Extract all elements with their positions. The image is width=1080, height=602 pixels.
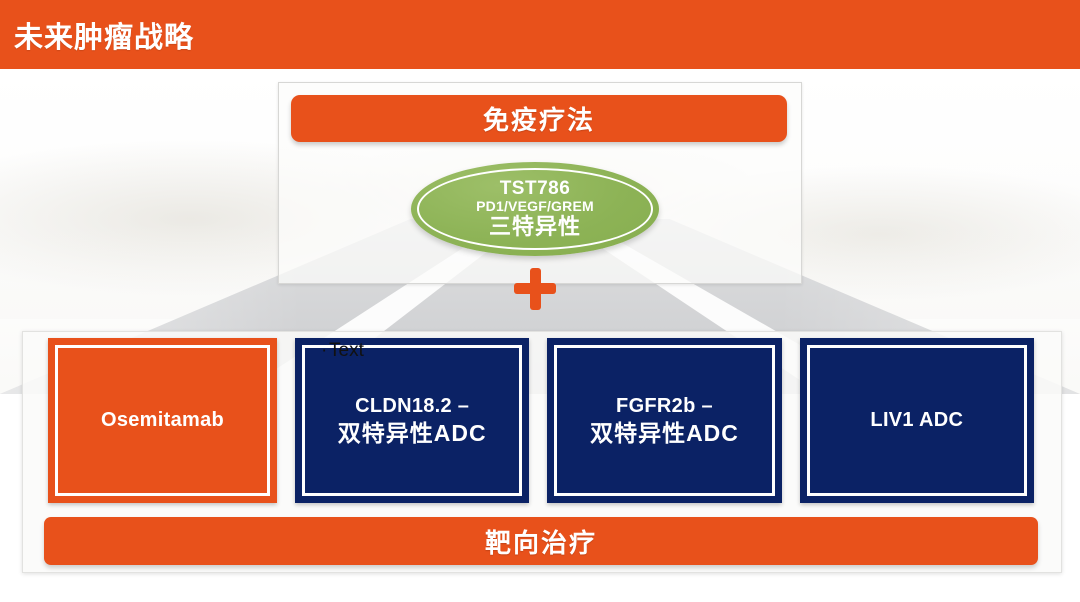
title-bar: 未来肿瘤战略 xyxy=(0,0,1080,69)
therapy-card-fgfr2b[interactable]: FGFR2b – 双特异性ADC xyxy=(547,338,781,503)
stray-text-label: Text xyxy=(329,340,364,361)
therapy-card-label: FGFR2b – 双特异性ADC xyxy=(580,394,749,446)
immunotherapy-banner-label: 免疫疗法 xyxy=(483,100,595,137)
therapy-card-list: Osemitamab CLDN18.2 – 双特异性ADC FGFR2b – 双… xyxy=(48,338,1034,503)
therapy-card-line1: LIV1 ADC xyxy=(870,408,963,432)
page-title: 未来肿瘤战略 xyxy=(14,14,194,56)
therapy-card-line1: CLDN18.2 – xyxy=(338,394,487,418)
therapy-card-cldn182[interactable]: CLDN18.2 – 双特异性ADC xyxy=(295,338,529,503)
immunotherapy-banner[interactable]: 免疫疗法 xyxy=(291,95,787,142)
therapy-card-line2: 双特异性ADC xyxy=(590,419,739,447)
plus-horizontal-stroke xyxy=(514,283,556,294)
tst786-code: TST786 xyxy=(500,179,571,199)
tst786-modality: 三特异性 xyxy=(489,215,581,239)
therapy-card-label: CLDN18.2 – 双特异性ADC xyxy=(328,394,497,446)
tst786-targets: PD1/VEGF/GREM xyxy=(476,198,594,215)
slide-canvas: 未来肿瘤战略 免疫疗法 TST786 PD1/VEGF/GREM 三特异性 Os… xyxy=(0,0,1080,602)
therapy-card-line2: 双特异性ADC xyxy=(338,419,487,447)
therapy-card-label: LIV1 ADC xyxy=(860,408,973,432)
therapy-card-line1: Osemitamab xyxy=(101,408,224,432)
targeted-therapy-banner[interactable]: 靶向治疗 xyxy=(44,517,1038,565)
bullet-dot-icon: · xyxy=(321,341,329,360)
targeted-therapy-banner-label: 靶向治疗 xyxy=(485,523,597,560)
therapy-card-liv1-adc[interactable]: LIV1 ADC xyxy=(800,338,1034,503)
therapy-card-line1: FGFR2b – xyxy=(590,394,739,418)
therapy-card-osemitamab[interactable]: Osemitamab xyxy=(48,338,277,503)
therapy-card-label: Osemitamab xyxy=(91,408,234,432)
tst786-ellipse[interactable]: TST786 PD1/VEGF/GREM 三特异性 xyxy=(411,162,659,256)
stray-text-artifact: ·Text xyxy=(321,341,364,360)
plus-icon xyxy=(514,268,556,310)
